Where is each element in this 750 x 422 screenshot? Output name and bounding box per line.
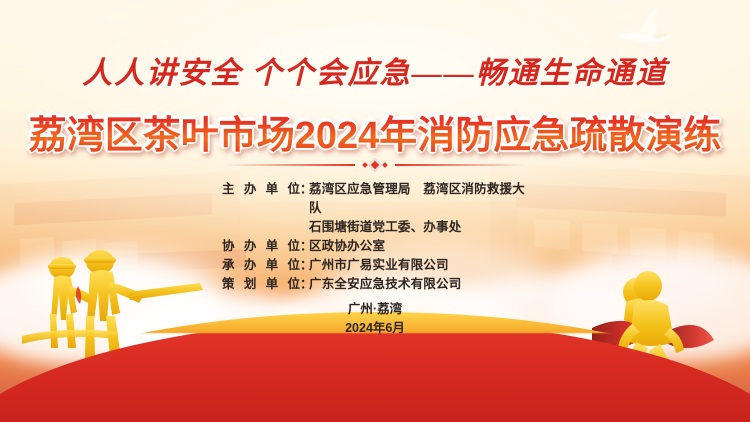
organizer-row: 协办单位 ： 区政协办公室 [222, 237, 528, 256]
organizer-row: 主办单位 ： 石围塘街道党工委、办事处 [222, 218, 528, 237]
poster-content: 人人讲安全 个个会应急——畅通生命通道 荔湾区茶叶市场2024年消防应急疏散演练… [0, 0, 750, 422]
organizer-colon: ： [300, 237, 309, 256]
organizer-label: 主办单位 [222, 180, 300, 218]
organizer-row: 主办单位 ： 荔湾区应急管理局 荔湾区消防救援大队 [222, 180, 528, 218]
decorative-divider [0, 160, 750, 170]
poster-main-title: 荔湾区茶叶市场2024年消防应急疏散演练 [0, 104, 750, 159]
divider-diamond-icon [368, 158, 382, 172]
organizer-label: 协办单位 [222, 237, 300, 256]
organizer-label: 策划单位 [222, 275, 300, 294]
organizer-value: 广州市广易实业有限公司 [309, 256, 528, 275]
organizer-list: 主办单位 ： 荔湾区应急管理局 荔湾区消防救援大队 主办单位 ： 石围塘街道党工… [0, 180, 750, 294]
organizer-row: 承办单位 ： 广州市广易实业有限公司 [222, 256, 528, 275]
poster-headline: 人人讲安全 个个会应急——畅通生命通道 [0, 48, 750, 92]
divider-dot-icon [382, 162, 388, 168]
divider-line-left [225, 164, 355, 166]
poster-canvas: 人人讲安全 个个会应急——畅通生命通道 荔湾区茶叶市场2024年消防应急疏散演练… [0, 0, 750, 422]
organizer-value: 广东全安应急技术有限公司 [309, 275, 528, 294]
organizer-colon: ： [300, 256, 309, 275]
organizer-value: 石围塘街道党工委、办事处 [309, 218, 528, 237]
footer-date: 2024年6月 [0, 319, 750, 338]
organizer-value: 区政协办公室 [309, 237, 528, 256]
divider-diamond-ornament-icon [363, 160, 387, 170]
organizer-colon: ： [300, 275, 309, 294]
organizer-row: 策划单位 ： 广东全安应急技术有限公司 [222, 275, 528, 294]
organizer-label: 承办单位 [222, 256, 300, 275]
poster-footer: 广州·荔湾 2024年6月 [0, 300, 750, 338]
footer-location: 广州·荔湾 [0, 300, 750, 319]
organizer-colon: ： [300, 180, 309, 218]
divider-line-right [395, 164, 525, 166]
organizer-value: 荔湾区应急管理局 荔湾区消防救援大队 [309, 180, 528, 218]
